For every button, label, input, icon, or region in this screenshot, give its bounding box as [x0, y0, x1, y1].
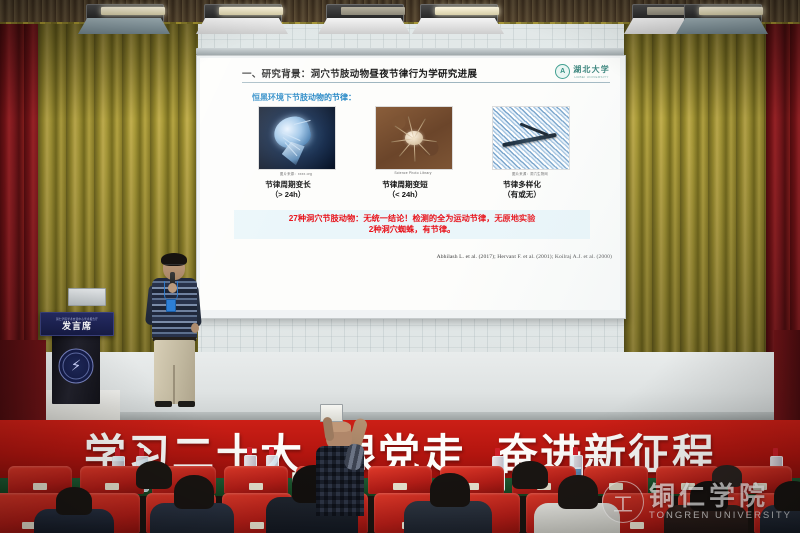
- highlight-conclusion-box: 27种洞穴节肢动物：无统一结论！检测的全为运动节律，无原地实验 2种洞穴蜘蛛，有…: [234, 210, 590, 239]
- stage-light-6: [318, 4, 410, 34]
- presenter-leg-seam: [173, 365, 175, 404]
- photo-credit-2: Science Photo Library: [375, 171, 451, 175]
- presenter-shoe-left: [155, 401, 172, 407]
- audience-head-r1-1: [136, 461, 172, 489]
- caption-2: 节律周期变短 （< 24h）: [357, 180, 453, 200]
- audience-head-r2-3: [430, 473, 470, 507]
- presenter-glasses-icon: [164, 264, 184, 269]
- caption-3-line1: 节律多样化: [474, 180, 570, 190]
- cave-amphipod-photo: [258, 106, 336, 170]
- audience-member-with-phone: [320, 404, 352, 448]
- projection-screen: 一、研究背景：洞穴节肢动物昼夜节律行为学研究进展 A 湖北大学 HUBEI UN…: [200, 58, 620, 310]
- caption-3-line2: （有或无）: [474, 190, 570, 200]
- photo-cell-3: 图片来源：洞穴生物网: [492, 106, 568, 176]
- podium-sign-title: 发言席: [62, 321, 92, 332]
- stage-light-3: [412, 4, 504, 34]
- slide-institution-logo: A 湖北大学 HUBEI UNIVERSITY: [555, 64, 610, 79]
- stage-light-7: [676, 4, 768, 34]
- auditorium-seat-r1-2: [80, 466, 144, 494]
- lecture-hall-photo: 一、研究背景：洞穴节肢动物昼夜节律行为学研究进展 A 湖北大学 HUBEI UN…: [0, 0, 800, 533]
- podium-sign: 铜仁学院学术交流中心学术报告厅 发言席: [40, 312, 114, 336]
- auditorium-seat-r1-6: [368, 466, 432, 494]
- speaker-podium: ⚡: [52, 330, 100, 404]
- highlight-line1: 27种洞穴节肢动物：无统一结论！检测的全为运动节律，无原地实验: [236, 213, 588, 224]
- highlight-line2: 2种洞穴蜘蛛，有节律。: [236, 224, 588, 235]
- audience-head-r2-1: [174, 475, 214, 509]
- stage-wall-left: [0, 340, 46, 426]
- tongren-university-watermark: 工 铜仁学院 TONGREN UNIVERSITY: [602, 481, 792, 523]
- audience-head-r2-7: [56, 487, 92, 515]
- audience-head-r2-4: [558, 475, 598, 509]
- podium-laptop: [68, 288, 106, 306]
- photo-cell-1: 图片来源：xxxx.org: [258, 106, 334, 176]
- stage-wall-right: [774, 330, 800, 426]
- caption-1-line1: 节律周期变长: [240, 180, 336, 190]
- presenter-hand-clicker: [191, 323, 199, 333]
- title-underline: [242, 82, 610, 83]
- caption-row: 节律周期变长 （> 24h） 节律周期变短 （< 24h） 节律多样化 （有或无…: [240, 180, 590, 206]
- watermark-name-en: TONGREN UNIVERSITY: [649, 510, 792, 521]
- photo-row: 图片来源：xxxx.org Science Photo Libra: [248, 106, 578, 178]
- stage-light-2: [196, 4, 288, 34]
- caption-1-line2: （> 24h）: [240, 190, 336, 200]
- presenter-hand-holding-mic: [168, 283, 177, 293]
- watermark-seal-icon: 工: [602, 481, 644, 523]
- caption-3: 节律多样化 （有或无）: [474, 180, 570, 200]
- photo-credit-1: 图片来源：xxxx.org: [258, 171, 334, 176]
- screen-roller-bar: [196, 48, 624, 55]
- cave-spider-photo: [375, 106, 453, 170]
- presentation-slide: 一、研究背景：洞穴节肢动物昼夜节律行为学研究进展 A 湖北大学 HUBEI UN…: [200, 58, 620, 310]
- photo-cell-2: Science Photo Library: [375, 106, 451, 175]
- caption-2-line2: （< 24h）: [357, 190, 453, 200]
- slide-subheading: 恒黑环境下节肢动物的节律：: [252, 92, 356, 103]
- photo-credit-3: 图片来源：洞穴生物网: [492, 171, 568, 176]
- logo-badge-icon: A: [555, 64, 570, 79]
- slide-citation: Abhilash L. et al. (2017); Hervant F. et…: [200, 254, 612, 260]
- presenter-shoe-right: [178, 401, 195, 407]
- caption-2-line1: 节律周期变短: [357, 180, 453, 190]
- logo-name-cn: 湖北大学: [573, 64, 610, 75]
- slide-title: 一、研究背景：洞穴节肢动物昼夜节律行为学研究进展: [242, 66, 542, 80]
- presenter-badge: [166, 299, 176, 312]
- auditorium-seat-r1-4: [224, 466, 288, 494]
- curtain-right-gold: [624, 8, 774, 352]
- stage-light-1: [78, 4, 170, 34]
- curtain-right-red: [766, 8, 800, 352]
- caption-1: 节律周期变长 （> 24h）: [240, 180, 336, 200]
- presenter-person: [146, 255, 206, 407]
- logo-name-en: HUBEI UNIVERSITY: [573, 75, 610, 79]
- watermark-name-cn: 铜仁学院: [649, 483, 792, 509]
- audience-head-r1-3: [512, 461, 548, 489]
- university-seal-icon: ⚡: [59, 349, 94, 384]
- cave-millipede-photo: [492, 106, 570, 170]
- curtain-left-red: [0, 8, 42, 356]
